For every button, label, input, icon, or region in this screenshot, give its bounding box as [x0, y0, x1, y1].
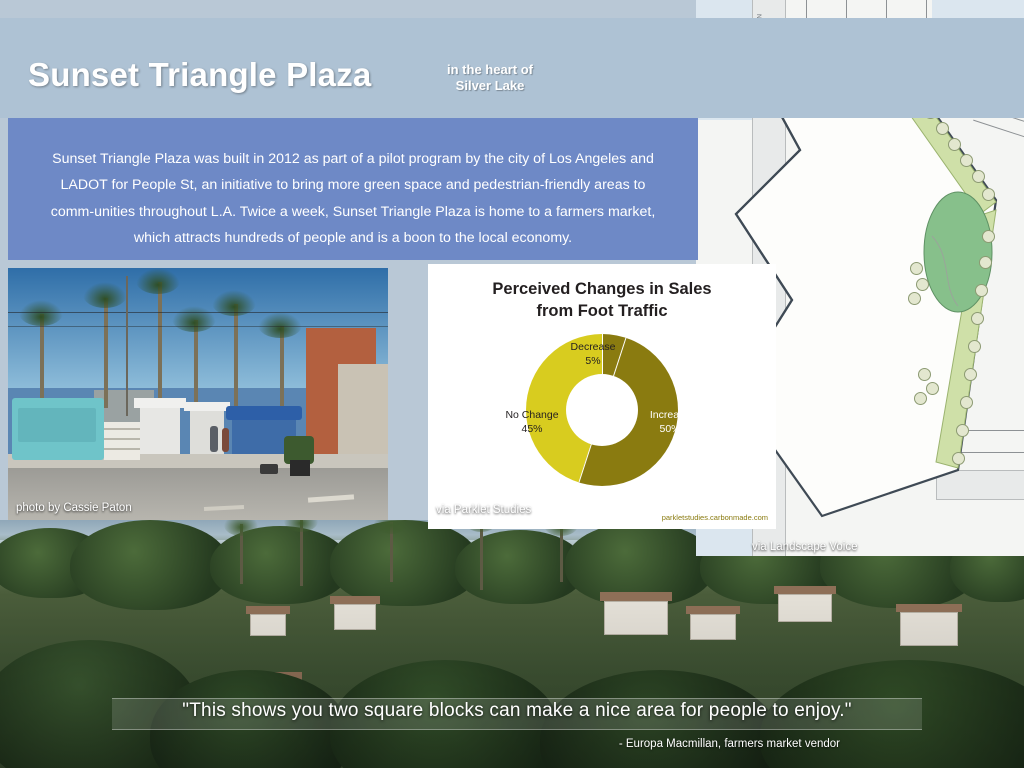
- siteplan-tree: [960, 154, 973, 167]
- power-line: [8, 326, 388, 327]
- palm-trunk: [104, 298, 108, 408]
- market-tent: [140, 408, 180, 454]
- siteplan-tree: [982, 188, 995, 201]
- palm-trunk: [194, 320, 198, 412]
- photo-building: [338, 364, 388, 456]
- palm-trunk: [40, 314, 44, 410]
- palm-trunk: [234, 304, 238, 408]
- quote-text: "This shows you two square blocks can ma…: [112, 700, 922, 722]
- siteplan-tree: [971, 312, 984, 325]
- description-panel: Sunset Triangle Plaza was built in 2012 …: [8, 118, 698, 260]
- tree: [210, 526, 350, 604]
- page-title-wrap: Sunset Triangle Plaza: [28, 58, 371, 91]
- siteplan-tree: [948, 138, 961, 151]
- slice-label-increase-value: 50%: [630, 422, 710, 436]
- house-roof: [246, 606, 290, 614]
- market-tent: [184, 402, 230, 411]
- siteplan-source-credit: via Landscape Voice: [752, 541, 858, 553]
- market-stairs-tread: [104, 428, 140, 430]
- chart-title-line1: Perceived Changes in Sales: [428, 278, 776, 300]
- chart-source-credit: via Parklet Studies: [436, 504, 531, 516]
- siteplan-tree: [964, 368, 977, 381]
- chart-title: Perceived Changes in Sales from Foot Tra…: [428, 264, 776, 323]
- slice-label-decrease-name: Decrease: [548, 340, 638, 354]
- market-tent-blue: [226, 406, 302, 420]
- siteplan-tree: [956, 424, 969, 437]
- chart-title-line2: from Foot Traffic: [428, 300, 776, 322]
- palm-trunk: [280, 326, 284, 412]
- page-subtitle-line2: Silver Lake: [380, 78, 600, 94]
- siteplan-tree: [982, 230, 995, 243]
- utility-pole: [126, 276, 128, 416]
- house: [690, 614, 736, 640]
- siteplan-tree: [968, 340, 981, 353]
- house-roof: [686, 606, 740, 614]
- siteplan-tree: [952, 452, 965, 465]
- house-roof: [896, 604, 962, 612]
- slice-label-decrease-value: 5%: [548, 354, 638, 368]
- farmers-market-photo: photo by Cassie Paton: [8, 268, 388, 520]
- house-roof: [330, 596, 380, 604]
- market-stairs-tread: [104, 448, 140, 450]
- slice-label-decrease: Decrease 5%: [548, 340, 638, 368]
- slice-label-no-change: No Change 45%: [492, 408, 572, 436]
- palm-crown: [19, 300, 63, 326]
- siteplan-tree: [960, 396, 973, 409]
- siteplan-tree: [918, 368, 931, 381]
- house-roof: [600, 592, 672, 601]
- house: [334, 604, 376, 630]
- siteplan-tree: [908, 292, 921, 305]
- siteplan-tree: [926, 382, 939, 395]
- page-subtitle-line1: in the heart of: [380, 62, 600, 78]
- house: [778, 594, 832, 622]
- siteplan-tree: [914, 392, 927, 405]
- person: [222, 428, 229, 452]
- market-tent: [134, 398, 186, 408]
- siteplan-tree: [972, 170, 985, 183]
- planter-base: [290, 460, 310, 476]
- siteplan-tree: [936, 122, 949, 135]
- siteplan-tree: [910, 262, 923, 275]
- slice-label-no-change-value: 45%: [492, 422, 572, 436]
- planter-base: [260, 464, 278, 474]
- hillside-background-photo: [0, 520, 1024, 768]
- palm-crown: [136, 268, 180, 294]
- description-text: Sunset Triangle Plaza was built in 2012 …: [51, 151, 656, 246]
- slice-label-increase-name: Increase: [630, 408, 710, 422]
- photo-credit: photo by Cassie Paton: [16, 502, 132, 514]
- palm-trunk: [158, 282, 162, 410]
- tree: [70, 520, 230, 610]
- slice-label-increase: Increase 50%: [630, 408, 710, 436]
- donut-hole: [566, 374, 638, 446]
- quote-attribution: - Europa Macmillan, farmers market vendo…: [112, 738, 922, 750]
- power-line: [8, 312, 388, 313]
- chart-source-url: parkletstudies.carbonmade.com: [662, 513, 768, 522]
- page-title: Sunset Triangle Plaza: [28, 58, 371, 91]
- person: [210, 426, 218, 452]
- market-truck-panel: [18, 408, 96, 442]
- house: [900, 612, 958, 646]
- house: [604, 601, 668, 635]
- palm-crown: [258, 312, 302, 338]
- market-stairs-tread: [104, 438, 140, 440]
- siteplan-tree: [975, 284, 988, 297]
- slice-label-no-change-name: No Change: [492, 408, 572, 422]
- house: [250, 614, 286, 636]
- house-roof: [774, 586, 836, 594]
- palm-crown: [172, 306, 216, 332]
- chart-card: Perceived Changes in Sales from Foot Tra…: [428, 264, 776, 529]
- market-tent: [190, 411, 224, 454]
- siteplan-tree: [916, 278, 929, 291]
- page-subtitle: in the heart of Silver Lake: [380, 62, 600, 95]
- palm-crown: [83, 282, 127, 308]
- siteplan-tree: [979, 256, 992, 269]
